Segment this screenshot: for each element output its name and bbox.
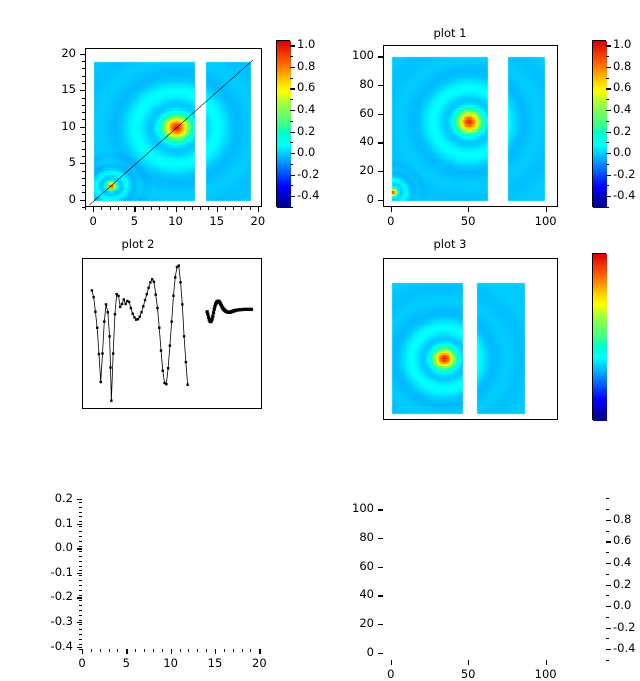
axis-tick [82,83,85,84]
y-tick-label: 20 [36,46,76,60]
y-tick-label: 0 [334,192,374,206]
axis-tick [258,207,259,210]
x-tick-label: 10 [156,214,196,228]
axis-tick [606,520,609,521]
axis-tick [606,175,609,176]
data-point-marker [121,303,123,305]
heatmap-image-top-right [384,46,558,207]
axis-tick [126,649,127,652]
axis-tick [215,649,216,652]
axis-tick [79,639,82,640]
axis-tick [208,207,209,210]
axis-tick [82,185,85,186]
axis-tick [82,163,85,164]
y-tick-label: -0.1 [33,565,73,579]
data-point-marker [212,311,215,314]
axis-tick [606,638,609,639]
y-tick-label: 0.2 [33,491,73,505]
axis-tick [606,585,609,586]
data-point-marker [131,313,133,315]
data-point-marker [211,318,214,321]
axis-tick [79,541,82,542]
subplot-bottom-right-title: plot 3 [290,237,610,251]
axis-tick [82,105,85,106]
data-point-marker [144,299,146,301]
y-tick-label: 100 [334,48,374,62]
axis-tick [225,207,226,210]
data-point-marker [206,313,209,316]
y-tick-label: -0.3 [33,614,73,628]
subplot-top-left: 0510152005101520 -0.4-0.20.00.20.40.60.8… [0,0,320,240]
data-point-marker [103,320,105,322]
axis-tick [93,207,94,210]
axis-tick [378,171,383,172]
axis-tick [91,649,92,652]
data-point-marker [169,344,171,346]
data-point-marker [130,307,132,309]
axis-tick [126,207,127,210]
axis-tick [391,660,392,665]
data-point-marker [160,349,162,351]
axis-tick [378,85,383,86]
axis-tick [290,207,293,208]
axis-tick [82,149,85,150]
axis-tick [77,597,82,598]
y-tick-label: 60 [334,106,374,120]
axis-tick [153,649,154,652]
data-point-marker [149,281,151,283]
colorbar-tick-label: 0.2 [613,577,640,591]
axis-tick [82,156,85,157]
data-point-marker [100,381,102,383]
data-point-marker [186,384,188,386]
axis-tick [167,207,168,210]
axis-tick [82,127,85,128]
axis-tick [82,98,85,99]
figure-canvas: 0510152005101520 -0.4-0.20.00.20.40.60.8… [0,0,640,480]
axis-tick [606,142,609,143]
axis-tick [606,164,609,165]
y-tick-label: -0.2 [33,589,73,603]
axis-tick [606,110,609,111]
axis-tick [109,649,110,652]
axis-tick [79,531,82,532]
axis-tick [290,88,293,89]
subplot-top-right: plot 1 050100020406080100 -0.4-0.20.00.2… [320,0,640,240]
axis-tick [606,574,609,575]
axis-tick [79,575,82,576]
axis-tick [200,207,201,210]
axis-tick [606,509,609,510]
colorbar-tick-label: -0.2 [613,167,640,181]
data-point-marker [123,298,125,300]
axes-top-left [85,48,262,207]
axis-tick [606,99,609,100]
axis-tick [79,546,82,547]
axis-tick [378,509,383,510]
data-point-marker [107,311,109,313]
colorbar-tick-label: 0.0 [613,145,640,159]
axis-tick [77,647,82,648]
axis-tick [77,499,82,500]
axis-tick [79,615,82,616]
subplot-top-right-title: plot 1 [290,26,610,40]
data-point-marker [124,303,126,305]
axis-tick [79,649,82,650]
axis-tick [79,551,82,552]
axis-tick [378,200,383,201]
axis-tick [79,556,82,557]
y-tick-label: 15 [36,82,76,96]
axis-tick [82,207,85,208]
data-point-marker [147,287,149,289]
axis-tick [606,78,609,79]
x-tick-label: 10 [151,656,191,670]
data-point-marker [128,301,130,303]
axis-tick [233,207,234,210]
y-tick-label: 0 [334,645,374,659]
data-point-marker [179,281,181,283]
axis-tick [606,45,609,46]
data-point-marker [167,367,169,369]
axis-tick [79,605,82,606]
axis-tick [100,649,101,652]
axis-tick [79,561,82,562]
axis-tick [606,56,609,57]
axis-tick [250,649,251,652]
colorbar-tick-label: 0.2 [613,124,640,138]
colorbar-tick-label: 0.0 [613,598,640,612]
x-tick-label: 100 [526,667,566,681]
axis-tick [250,207,251,210]
axis-tick [606,649,609,650]
axes-bottom-right [383,258,558,420]
y-tick-label: 0.0 [33,540,73,554]
axis-tick [162,649,163,652]
data-point-marker [153,281,155,283]
axis-tick [143,207,144,210]
axis-tick [206,649,207,652]
axis-tick [110,207,111,210]
axis-tick [79,629,82,630]
axis-tick [606,196,609,197]
data-point-marker [170,320,172,322]
axis-tick [82,68,85,69]
data-point-marker [181,303,183,305]
axis-tick [378,595,383,596]
data-point-marker [108,335,110,337]
data-point-marker [162,370,164,372]
axis-tick [79,620,82,621]
axis-tick [79,610,82,611]
axis-tick [290,196,293,197]
axis-tick [606,132,609,133]
axis-tick [79,516,82,517]
axis-tick [606,88,609,89]
data-point-marker [110,399,112,401]
colorbar-tick-label: 0.4 [613,102,640,116]
axis-tick [378,653,383,654]
y-tick-label: 0 [36,192,76,206]
axis-tick [378,56,383,57]
data-point-marker [91,289,93,291]
axis-tick [192,207,193,210]
data-point-marker [140,311,142,313]
x-tick-label: 0 [62,656,102,670]
axis-tick [77,573,82,574]
colorbar-tick-label: -0.4 [613,188,640,202]
axis-tick [606,531,609,532]
axis-tick [606,595,609,596]
axis-tick [79,526,82,527]
y-tick-label: 20 [334,616,374,630]
data-point-marker [112,352,114,354]
axis-tick [606,541,609,542]
axis-tick [79,600,82,601]
y-tick-label: 80 [334,77,374,91]
x-tick-label: 5 [106,656,146,670]
axis-tick [290,132,293,133]
colorbar-tick-label: 0.4 [613,555,640,569]
axis-tick [79,570,82,571]
colorbar-tick-label: -0.4 [613,641,640,655]
axis-tick [606,185,609,186]
data-point-marker [139,316,141,318]
data-point-marker [146,293,148,295]
axis-tick [606,563,609,564]
x-tick-label: 50 [448,667,488,681]
axis-tick [79,507,82,508]
axis-tick [378,567,383,568]
axis-tick [79,512,82,513]
data-point-marker [155,293,157,295]
axis-tick [79,521,82,522]
data-point-marker [142,305,144,307]
axis-tick [79,580,82,581]
colorbar-tick-label: 0.6 [613,80,640,94]
line-series-bottom-left [83,259,262,409]
axis-tick [82,134,85,135]
colorbar-tick-label: 0.6 [613,533,640,547]
data-point-marker [92,296,94,298]
axis-tick [290,175,293,176]
axis-tick [197,649,198,652]
data-point-marker [185,361,187,363]
axes-bottom-left [82,258,262,409]
axis-tick [79,590,82,591]
axis-tick [77,524,82,525]
data-point-marker [98,353,100,355]
axis-tick [290,110,293,111]
axis-tick [82,141,85,142]
data-point-marker [213,308,216,311]
line-path-segment-1 [92,266,188,401]
colorbar-top-left [276,40,290,207]
axis-tick [79,502,82,503]
axis-tick [606,606,609,607]
y-tick-label: -0.4 [33,639,73,653]
axis-tick [606,628,609,629]
y-tick-label: 0.1 [33,516,73,530]
data-point-marker [101,352,103,354]
axis-tick [79,644,82,645]
axis-tick [82,192,85,193]
axis-tick [82,200,85,201]
axis-tick [546,207,547,212]
axis-tick [606,207,609,208]
data-point-marker [165,383,167,385]
axis-tick [290,142,293,143]
y-tick-label: 100 [334,501,374,515]
axis-tick [241,207,242,210]
data-point-marker [96,327,98,329]
data-point-marker [156,307,158,309]
axis-tick [77,622,82,623]
axis-tick [184,207,185,210]
y-tick-label: 80 [334,530,374,544]
heatmap-image-bottom-right [384,259,558,420]
data-point-marker [174,276,176,278]
axis-tick [171,649,172,652]
axis-tick [82,90,85,91]
axis-tick [85,207,86,210]
axis-tick [101,207,102,210]
axis-tick [378,538,383,539]
axis-tick [606,617,609,618]
axis-tick [159,207,160,210]
axis-tick [77,548,82,549]
y-tick-label: 40 [334,134,374,148]
axis-tick [290,99,293,100]
data-point-marker [105,303,107,305]
axis-tick [242,649,243,652]
x-tick-label: 15 [197,214,237,228]
data-point-marker [178,264,180,266]
axis-tick [259,649,260,652]
x-tick-label: 0 [371,667,411,681]
axis-tick [117,649,118,652]
axis-tick [217,207,218,210]
y-tick-label: 20 [334,163,374,177]
axis-tick [82,171,85,172]
data-point-marker [117,295,119,297]
axis-tick [391,207,392,212]
axis-tick [606,660,609,661]
data-point-marker [250,308,253,311]
data-point-marker [172,295,174,297]
axis-tick [290,185,293,186]
x-tick-label: 15 [195,656,235,670]
axis-tick [468,207,469,212]
data-point-marker [151,278,153,280]
axis-tick [79,585,82,586]
x-tick-label: 0 [73,214,113,228]
axis-tick [233,649,234,652]
axis-tick [606,67,609,68]
x-tick-label: 50 [448,214,488,228]
axis-tick [180,649,181,652]
axis-tick [378,142,383,143]
axis-tick [290,153,293,154]
data-point-marker [183,335,185,337]
axis-tick [468,660,469,665]
axis-tick [134,207,135,210]
axis-tick [224,649,225,652]
data-point-marker [94,311,96,313]
y-tick-label: 10 [36,119,76,133]
y-tick-label: 60 [334,559,374,573]
axis-tick [290,121,293,122]
axis-tick [606,552,609,553]
data-point-marker [211,315,214,318]
axis-tick [79,595,82,596]
axis-tick [290,56,293,57]
axis-tick [135,649,136,652]
colorbar-tick-label: -0.2 [613,620,640,634]
axis-tick [82,119,85,120]
diagonal-overlay-line [86,49,262,207]
x-tick-label: 100 [526,214,566,228]
axis-tick [188,649,189,652]
axis-tick [606,121,609,122]
axis-tick [546,660,547,665]
axis-tick [144,649,145,652]
colorbar-tick-label: 0.8 [613,512,640,526]
axis-tick [378,624,383,625]
axis-tick [606,498,609,499]
axis-tick [290,45,293,46]
axis-tick [82,54,85,55]
axis-tick [82,178,85,179]
axis-tick [378,114,383,115]
axis-tick [82,649,83,652]
colorbar-tick-label: 1.0 [613,37,640,51]
colorbar-bottom-right [592,253,606,420]
axis-tick [82,76,85,77]
x-tick-label: 20 [238,214,278,228]
subplot-bottom-right: plot 3 050100020406080100 -0.4-0.20.00.2… [320,240,640,480]
x-tick-label: 20 [239,656,279,670]
y-tick-label: 5 [36,155,76,169]
data-point-marker [114,313,116,315]
x-tick-label: 0 [371,214,411,228]
x-tick-label: 5 [114,214,154,228]
data-point-marker [158,327,160,329]
y-tick-label: 40 [334,587,374,601]
data-point-marker [133,316,135,318]
colorbar-tick-label: 0.8 [613,59,640,73]
axis-tick [290,78,293,79]
axis-tick [79,634,82,635]
data-point-marker [119,306,121,308]
data-point-marker [137,318,139,320]
axis-tick [79,566,82,567]
subplot-bottom-left-title: plot 2 [0,237,298,251]
axis-tick [82,112,85,113]
axis-tick [290,164,293,165]
colorbar-top-right [592,40,606,207]
axis-tick [79,536,82,537]
axis-tick [176,207,177,210]
axis-tick [606,153,609,154]
axis-tick [151,207,152,210]
axis-tick [79,624,82,625]
axis-tick [290,67,293,68]
axis-tick [118,207,119,210]
axes-top-right [383,45,558,207]
axis-tick [82,61,85,62]
data-point-marker [109,366,111,368]
